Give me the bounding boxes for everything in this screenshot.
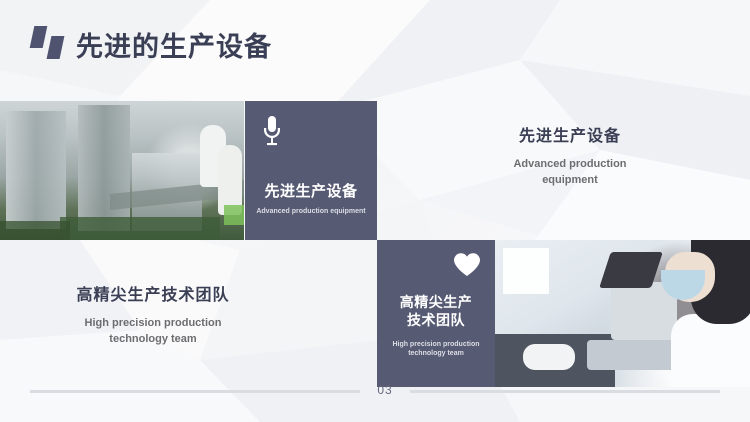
page-number: 03 xyxy=(363,383,407,397)
footer-rule-left xyxy=(30,390,360,393)
photo-detail-machine xyxy=(78,105,130,231)
card-production-equipment[interactable]: 先进生产设备 Advanced production equipment xyxy=(245,101,377,240)
photo-detail-crate xyxy=(224,205,244,225)
page-title: 先进的生产设备 xyxy=(76,25,272,64)
photo-detail-window xyxy=(503,248,549,294)
photo-detail-machine xyxy=(6,111,66,229)
photo-detail-glove xyxy=(523,344,575,370)
text-block-title-cn: 先进生产设备 xyxy=(450,127,690,148)
card-title-cn: 高精尖生产 技术团队 xyxy=(377,294,495,329)
text-block-subtitle-line1: High precision production xyxy=(28,316,278,332)
photo-factory-line xyxy=(0,101,244,240)
card-title-en: Advanced production equipment xyxy=(253,207,369,216)
card-title-cn: 先进生产设备 xyxy=(245,183,377,202)
text-block-subtitle-line2: equipment xyxy=(450,173,690,189)
text-block-subtitle-line2: technology team xyxy=(28,332,278,348)
heart-icon xyxy=(453,252,481,281)
text-block-title-cn: 高精尖生产技术团队 xyxy=(28,286,278,307)
photo-detail-lab-coat xyxy=(671,314,750,387)
card-technology-team[interactable]: 高精尖生产 技术团队 High precision production tec… xyxy=(377,240,495,387)
card-title-en: High precision production technology tea… xyxy=(383,340,489,358)
microphone-icon xyxy=(261,115,283,151)
text-block-subtitle-line1: Advanced production xyxy=(450,157,690,173)
photo-detail-floor xyxy=(60,217,220,240)
footer-rule-right xyxy=(410,390,720,393)
text-block-subtitle-en: High precision production technology tea… xyxy=(28,316,278,348)
slide-canvas: 先进的生产设备 先进生产设备 Advanced production equip… xyxy=(0,0,750,422)
brand-logo-icon xyxy=(30,26,68,60)
text-production-equipment: 先进生产设备 Advanced production equipment xyxy=(450,127,690,189)
slide-header: 先进的生产设备 xyxy=(0,0,750,88)
text-technology-team: 高精尖生产技术团队 High precision production tech… xyxy=(28,286,278,348)
photo-lab-microscope xyxy=(495,240,750,387)
text-block-subtitle-en: Advanced production equipment xyxy=(450,157,690,189)
photo-detail-floor-shadow xyxy=(0,221,70,240)
logo-bar-upper xyxy=(30,26,48,48)
card-title-cn-line1: 高精尖生产 xyxy=(377,294,495,312)
card-title-cn-line2: 技术团队 xyxy=(377,312,495,330)
logo-bar-lower xyxy=(47,36,65,59)
